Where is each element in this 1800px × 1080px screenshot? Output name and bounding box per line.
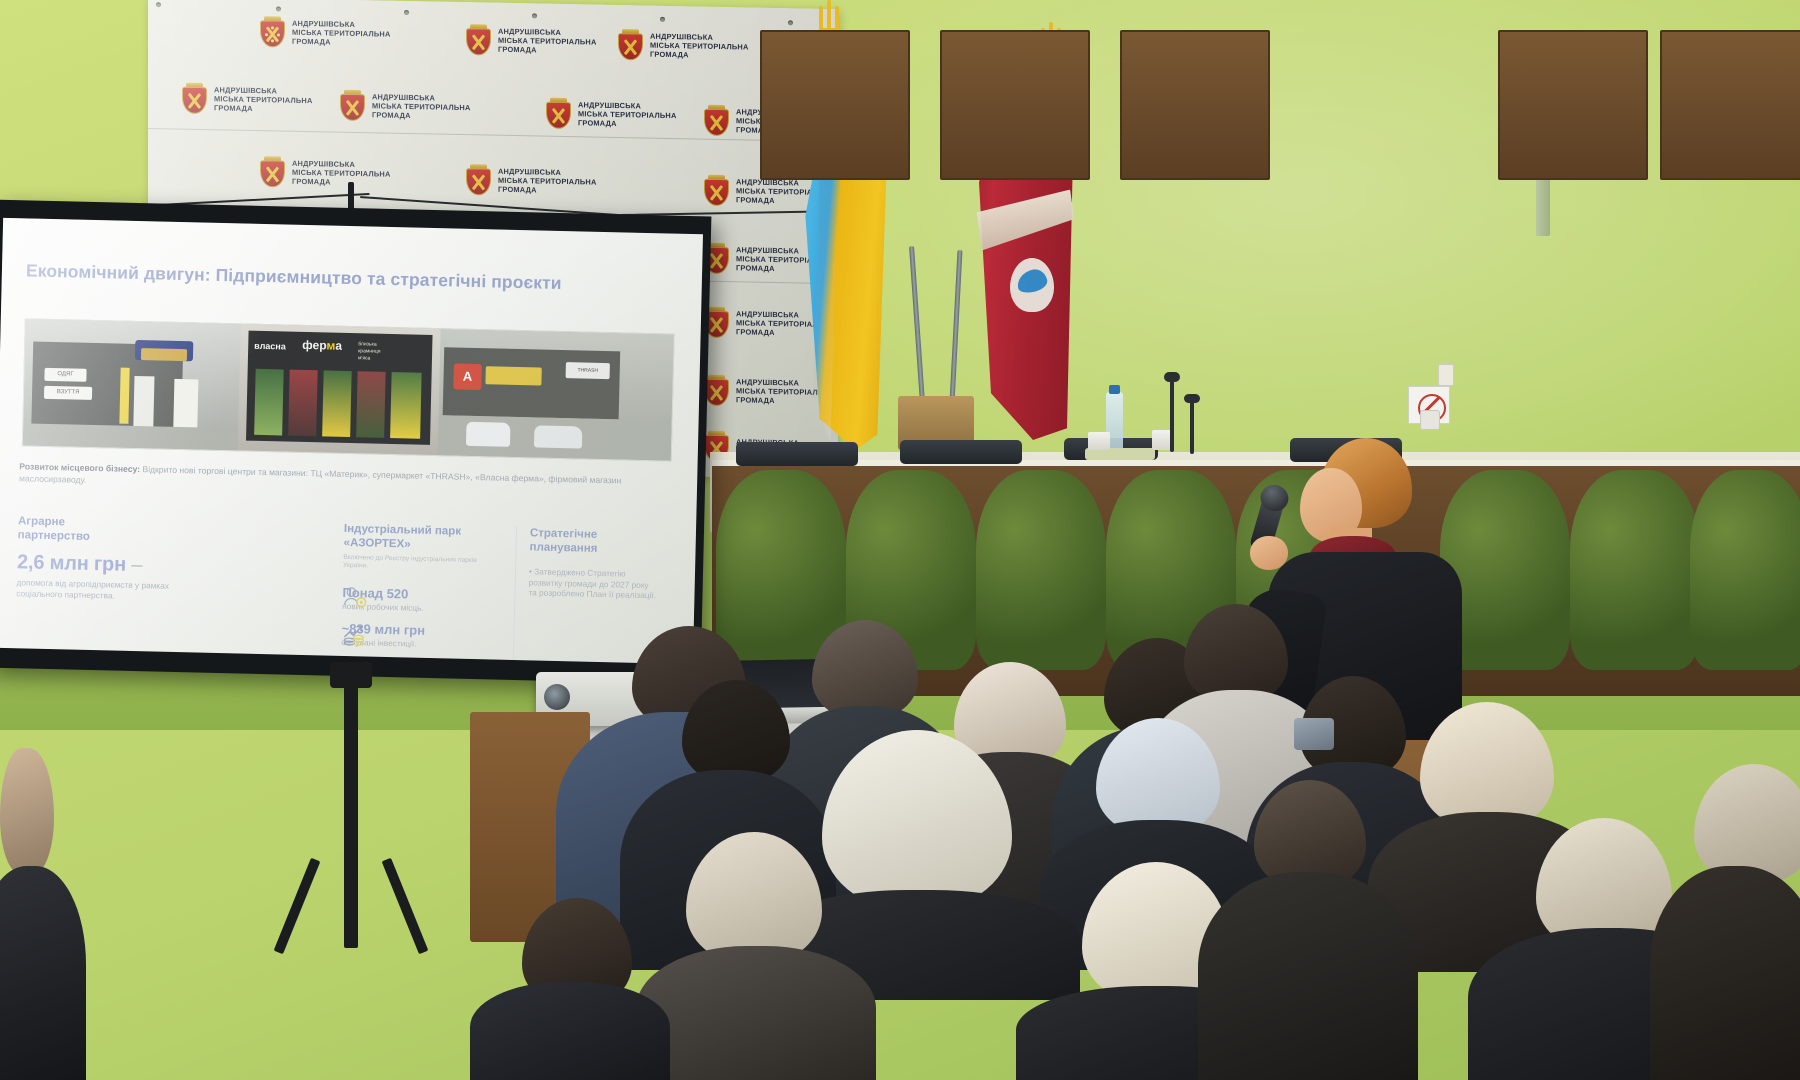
plant-hedge [1570,470,1700,670]
desk-microphone-head [1184,394,1200,403]
coat-of-arms-icon [466,24,491,55]
column-divider [513,526,517,664]
coat-of-arms-icon [260,16,285,47]
photograph-scene: АНДРУШІВСЬКА МІСЬКА ТЕРИТОРІАЛЬНА ГРОМАД… [0,0,1800,1080]
community-flag-emblem [1010,258,1054,312]
banner-logo: АНДРУШІВСЬКА МІСЬКА ТЕРИТОРІАЛЬНА ГРОМАД… [260,156,391,190]
growth-coins-icon [341,621,368,648]
banner-line-2: МІСЬКА ТЕРИТОРІАЛЬНА [292,28,391,39]
desk-microphone-head [1164,372,1180,382]
projection-screen-frame: Економічний двигун: Підприємництво та ст… [0,200,711,685]
banner-line-3: ГРОМАДА [292,37,391,48]
power-socket [1420,410,1440,430]
coat-of-arms-icon [466,164,491,195]
desk-panel [760,30,910,180]
audience-body [636,946,876,1080]
audience-body [470,982,670,1080]
plant-hedge [1690,470,1800,670]
cup [1152,430,1172,450]
banner-logo: АНДРУШІВСЬКА МІСЬКА ТЕРИТОРІАЛЬНА ГРОМАД… [260,16,391,50]
projection-screen: Економічний двигун: Підприємництво та ст… [0,218,703,664]
strategic-planning-bullet: • Затверджено Стратегію розвитку громади… [528,566,657,601]
ceiling-hook [348,182,354,210]
strategic-planning-heading: Стратегічне планування [529,526,658,557]
coat-of-arms-icon [704,105,729,136]
audience-head [0,748,54,874]
audience-body [0,866,86,1080]
banner-logo: АНДРУШІВСЬКА МІСЬКА ТЕРИТОРІАЛЬНА ГРОМАД… [466,24,597,58]
industrial-park-note: Включено до Реєстру індустріальних паркі… [343,554,499,574]
slide-caption: Розвиток місцевого бізнесу: Відкрито нов… [19,461,659,499]
banner-logo: АНДРУШІВСЬКА МІСЬКА ТЕРИТОРІАЛЬНА ГРОМАД… [182,83,313,117]
audience-body [1650,866,1800,1080]
banner-logo: АНДРУШІВСЬКА МІСЬКА ТЕРИТОРІАЛЬНА ГРОМАД… [466,164,597,198]
audience-body [1198,872,1418,1080]
speaker-hand [1250,536,1288,570]
coat-of-arms-icon [260,156,285,187]
coat-of-arms-icon [340,90,365,121]
coat-of-arms-icon [704,175,729,206]
agrarian-heading: Аграрне партнерство [18,514,179,546]
agrarian-body: допомога від агропідприємств у рамках со… [16,577,176,602]
hair-clip [1294,718,1334,750]
desk-microphone [1170,378,1174,452]
screen-tripod-hub [330,662,372,688]
chair-back [900,440,1022,464]
slide-title: Економічний двигун: Підприємництво та ст… [26,260,562,294]
coat-of-arms-icon [704,375,729,406]
desk-panel [1498,30,1648,180]
coat-of-arms-icon [182,83,207,114]
desk-panel [940,30,1090,180]
agrarian-value: 2,6 млн грн [17,551,126,576]
banner-logo: АНДРУШІВСЬКА МІСЬКА ТЕРИТОРІАЛЬНА ГРОМАД… [618,29,749,63]
slide-column-industrial-park: Індустріальний парк «АЗОРТЕХ» Включено д… [341,522,500,651]
agrarian-value-suffix: – [126,554,143,576]
desk-panel [1660,30,1800,180]
desk-panel [1120,30,1270,180]
coat-of-arms-icon [618,29,643,60]
desk-microphone [1190,400,1194,454]
banner-logo: АНДРУШІВСЬКА МІСЬКА ТЕРИТОРІАЛЬНА ГРОМАД… [340,90,471,124]
slide-caption-lead: Розвиток місцевого бізнесу: [19,461,140,474]
slide-column-agrarian: Аграрне партнерство 2,6 млн грн – допомо… [16,514,178,602]
banner-logo: АНДРУШІВСЬКА МІСЬКА ТЕРИТОРІАЛЬНА ГРОМАД… [546,98,677,132]
cup [1088,432,1110,450]
worker-gear-icon [342,585,369,612]
slide-column-strategic-planning: Стратегічне планування • Затверджено Стр… [528,526,658,600]
chair-back [736,442,858,466]
industrial-park-heading: Індустріальний парк «АЗОРТЕХ» [343,522,500,554]
coat-of-arms-icon [546,98,571,129]
banner-line-1: АНДРУШІВСЬКА [292,18,391,29]
light-switch[interactable] [1438,364,1454,386]
plant-hedge [976,470,1106,670]
slide-photo-strip: ОДЯГ ВЗУТТЯ власна фермa близькакрамниця… [22,318,675,461]
screen-tripod-mast [344,676,358,948]
